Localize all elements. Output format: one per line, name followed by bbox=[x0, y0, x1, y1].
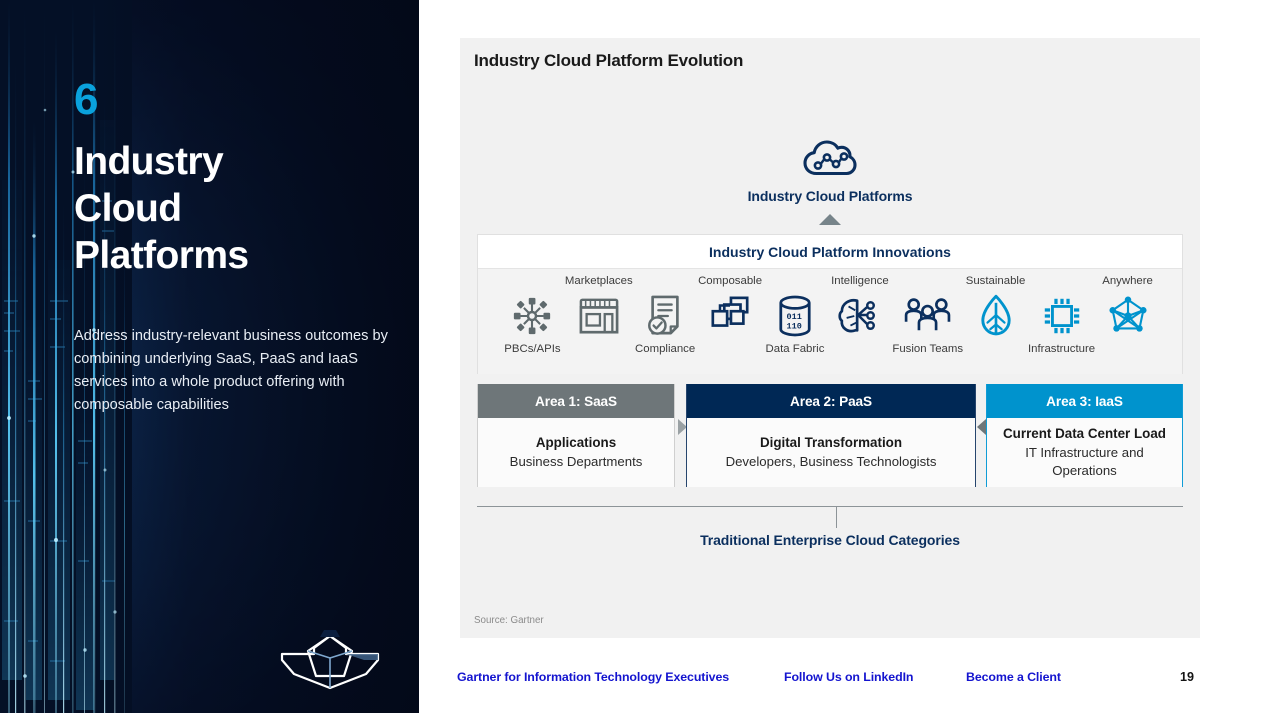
brain-circuit-icon bbox=[837, 293, 883, 339]
innovation-label: Sustainable bbox=[966, 269, 1026, 293]
innovation-item-intelligence[interactable]: Intelligence bbox=[827, 269, 892, 355]
innovation-label: PBCs/APIs bbox=[504, 343, 560, 355]
diagram-card: Industry Cloud Platform Evolution Indust… bbox=[460, 38, 1200, 638]
innovation-label: Anywhere bbox=[1102, 269, 1153, 293]
footer: Gartner for Information Technology Execu… bbox=[0, 670, 1269, 696]
area-boxes-group: Area 1: SaaS Applications Business Depar… bbox=[477, 384, 1183, 487]
area-box-saas[interactable]: Area 1: SaaS Applications Business Depar… bbox=[477, 384, 675, 487]
card-title: Industry Cloud Platform Evolution bbox=[474, 51, 743, 71]
headline-line-2: Cloud bbox=[74, 185, 404, 232]
area-primary-text: Digital Transformation bbox=[760, 434, 902, 453]
innovation-item-compliance[interactable]: Compliance bbox=[633, 269, 698, 355]
innovation-item-data-fabric[interactable]: 011 110 Data Fabric bbox=[763, 269, 828, 355]
bracket-vertical-line bbox=[836, 506, 837, 528]
area-header: Area 2: PaaS bbox=[687, 384, 975, 418]
slide-number: 6 bbox=[74, 78, 97, 122]
area-box-iaas[interactable]: Area 3: IaaS Current Data Center Load IT… bbox=[986, 384, 1183, 487]
innovation-label: Composable bbox=[698, 269, 762, 293]
source-note: Source: Gartner bbox=[474, 615, 544, 626]
area-box-paas[interactable]: Area 2: PaaS Digital Transformation Deve… bbox=[686, 384, 976, 487]
apex-label: Industry Cloud Platforms bbox=[460, 188, 1200, 204]
packaged-business-capability-icon bbox=[511, 293, 553, 339]
area-header: Area 1: SaaS bbox=[478, 384, 674, 418]
area-secondary-text: Developers, Business Technologists bbox=[726, 453, 937, 471]
traditional-categories-label: Traditional Enterprise Cloud Categories bbox=[477, 532, 1183, 548]
slide-page: 6 Industry Cloud Platforms Address indus… bbox=[0, 0, 1269, 713]
document-check-icon bbox=[645, 293, 685, 339]
innovation-item-marketplaces[interactable]: Marketplaces bbox=[565, 269, 633, 355]
area-primary-text: Applications bbox=[536, 434, 616, 453]
area-secondary-text: IT Infrastructure and Operations bbox=[993, 444, 1176, 480]
page-number: 19 bbox=[1180, 670, 1194, 684]
arrow-left-icon bbox=[977, 419, 986, 435]
area-primary-text: Current Data Center Load bbox=[1003, 425, 1166, 444]
bracket-horizontal-line bbox=[477, 506, 1183, 507]
innovation-item-sustainable[interactable]: Sustainable bbox=[963, 269, 1028, 355]
spacer-label bbox=[728, 343, 731, 355]
innovations-heading: Industry Cloud Platform Innovations bbox=[478, 235, 1182, 269]
footer-link-linkedin[interactable]: Follow Us on LinkedIn bbox=[784, 670, 913, 684]
up-triangle-icon bbox=[819, 214, 841, 225]
innovations-body: PBCs/APIs Marketplaces bbox=[478, 269, 1182, 374]
slide-headline: Industry Cloud Platforms bbox=[74, 138, 404, 280]
innovation-item-composable[interactable]: Composable bbox=[698, 269, 763, 355]
storefront-icon bbox=[577, 293, 621, 339]
cpu-chip-icon bbox=[1040, 293, 1084, 339]
area-header: Area 3: IaaS bbox=[987, 384, 1182, 418]
innovation-label: Fusion Teams bbox=[892, 343, 963, 355]
area-body: Current Data Center Load IT Infrastructu… bbox=[987, 418, 1182, 487]
leaf-icon bbox=[980, 293, 1012, 339]
innovations-panel: Industry Cloud Platform Innovations bbox=[477, 234, 1183, 374]
innovation-item-pbcs-apis[interactable]: PBCs/APIs bbox=[500, 269, 565, 355]
innovation-item-fusion-teams[interactable]: Fusion Teams bbox=[892, 269, 963, 355]
area-secondary-text: Business Departments bbox=[510, 453, 643, 471]
database-binary-icon: 011 110 bbox=[777, 293, 813, 339]
svg-text:110: 110 bbox=[786, 321, 801, 331]
mesh-network-icon bbox=[1106, 293, 1150, 339]
slide-description: Address industry-relevant business outco… bbox=[74, 325, 404, 417]
spacer-label bbox=[994, 343, 997, 355]
innovation-label: Intelligence bbox=[831, 269, 889, 293]
left-title-panel: 6 Industry Cloud Platforms Address indus… bbox=[0, 0, 419, 713]
innovation-label: Data Fabric bbox=[766, 343, 825, 355]
svg-text:011: 011 bbox=[786, 312, 801, 322]
headline-line-3: Platforms bbox=[74, 232, 404, 279]
innovation-item-infrastructure[interactable]: Infrastructure bbox=[1028, 269, 1095, 355]
footer-link-gartner-ite[interactable]: Gartner for Information Technology Execu… bbox=[457, 670, 729, 684]
area-body: Digital Transformation Developers, Busin… bbox=[687, 418, 975, 487]
spacer-label bbox=[1126, 343, 1129, 355]
innovation-label: Compliance bbox=[635, 343, 695, 355]
innovation-item-anywhere[interactable]: Anywhere bbox=[1095, 269, 1160, 355]
innovations-icon-row: PBCs/APIs Marketplaces bbox=[478, 269, 1182, 374]
composable-blocks-icon bbox=[707, 293, 753, 339]
area-body: Applications Business Departments bbox=[478, 418, 674, 487]
people-group-icon bbox=[904, 293, 952, 339]
cloud-network-icon bbox=[460, 138, 1200, 183]
footer-link-become-a-client[interactable]: Become a Client bbox=[966, 670, 1061, 684]
innovation-label: Infrastructure bbox=[1028, 343, 1095, 355]
spacer-label bbox=[858, 343, 861, 355]
innovation-label: Marketplaces bbox=[565, 269, 633, 293]
headline-line-1: Industry bbox=[74, 138, 404, 185]
spacer-label bbox=[597, 343, 600, 355]
apex-group: Industry Cloud Platforms bbox=[460, 138, 1200, 204]
